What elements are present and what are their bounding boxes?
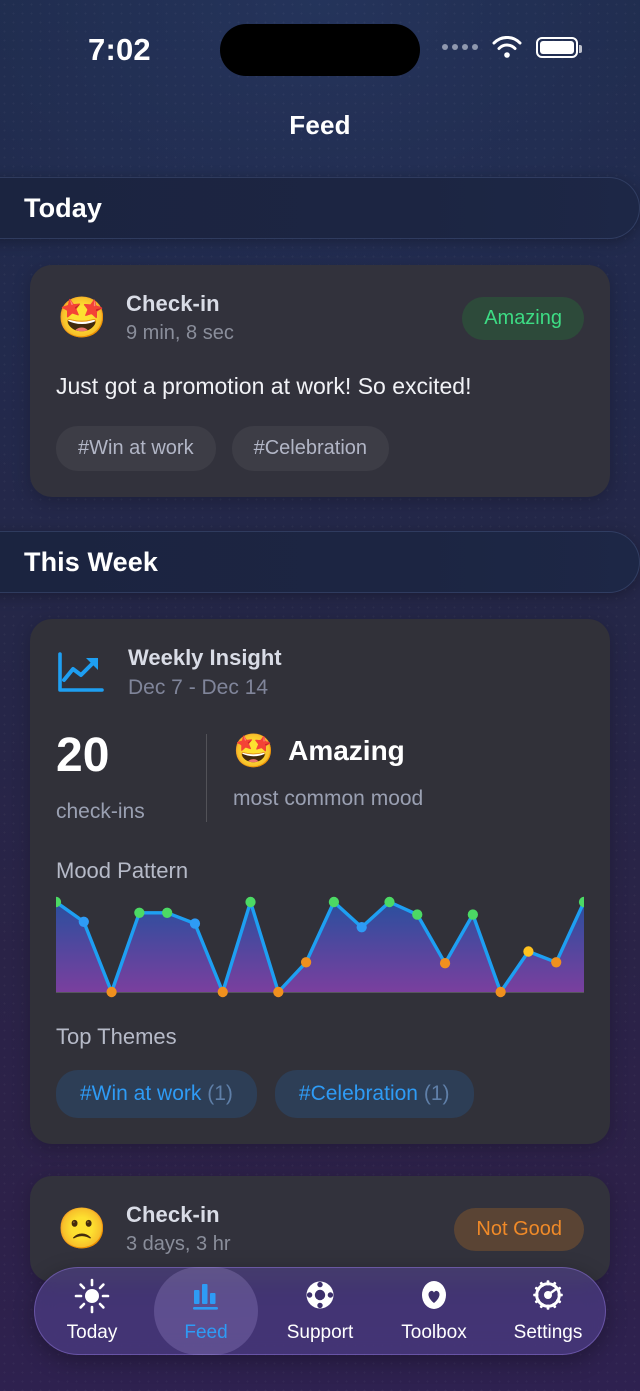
weekly-insight-meta: Weekly Insight Dec 7 - Dec 14 — [128, 645, 282, 700]
tag-chip[interactable]: #Win at work — [56, 426, 216, 471]
tab-today[interactable]: Today — [40, 1267, 144, 1355]
mood-point — [301, 957, 311, 967]
status-badge: Amazing — [462, 297, 584, 340]
theme-chip-count: (1) — [207, 1082, 233, 1105]
weekly-insight-card[interactable]: Weekly Insight Dec 7 - Dec 14 20 check-i… — [30, 619, 610, 1144]
weekly-stats: 20 check-ins 🤩 Amazing most common mood — [56, 732, 584, 824]
wifi-icon — [492, 36, 522, 58]
checkin-count-stat: 20 check-ins — [56, 732, 206, 824]
stat-divider — [206, 734, 207, 822]
mood-pattern-label: Mood Pattern — [56, 858, 584, 884]
section-header-today: Today — [0, 177, 640, 239]
status-bar-time: 7:02 — [88, 32, 151, 68]
frowning-face-emoji-icon: 🙁 — [56, 1209, 108, 1249]
theme-chip[interactable]: #Celebration (1) — [275, 1070, 474, 1118]
life-ring-icon — [302, 1278, 338, 1314]
mood-point — [245, 897, 255, 907]
theme-chip-name: #Celebration — [299, 1082, 418, 1105]
checkin-meta: Check-in 3 days, 3 hr — [126, 1202, 436, 1256]
checkin-elapsed: 3 days, 3 hr — [126, 1233, 436, 1256]
dynamic-island — [220, 24, 420, 76]
mood-point — [579, 897, 584, 907]
tab-bar: Today Feed — [34, 1267, 606, 1355]
section-header-this-week-label: This Week — [24, 547, 158, 578]
mood-point — [79, 917, 89, 927]
heart-icon — [416, 1278, 452, 1314]
theme-chip[interactable]: #Win at work (1) — [56, 1070, 257, 1118]
mood-point — [106, 987, 116, 997]
mood-pattern-chart — [56, 896, 584, 998]
tab-support-label: Support — [287, 1322, 354, 1344]
star-struck-emoji-icon: 🤩 — [56, 298, 108, 338]
tab-today-label: Today — [67, 1322, 118, 1344]
app-screen: 7:02 Feed Today 🤩 Check-in 9 min, 8 sec — [0, 0, 640, 1391]
checkin-count-value: 20 — [56, 732, 206, 780]
page-title: Feed — [0, 110, 640, 141]
mood-point — [134, 908, 144, 918]
theme-chip-name: #Win at work — [80, 1082, 201, 1105]
common-mood-stat: 🤩 Amazing most common mood — [233, 732, 584, 824]
theme-chip-count: (1) — [424, 1082, 450, 1105]
trending-up-chart-icon — [56, 650, 106, 696]
weekly-insight-date-range: Dec 7 - Dec 14 — [128, 676, 282, 700]
mood-point — [329, 897, 339, 907]
checkin-meta: Check-in 9 min, 8 sec — [126, 291, 444, 345]
bar-chart-icon — [188, 1278, 224, 1314]
checkin-message: Just got a promotion at work! So excited… — [56, 371, 584, 402]
weekly-insight-title: Weekly Insight — [128, 645, 282, 671]
mood-pattern-svg — [56, 896, 584, 998]
tab-feed[interactable]: Feed — [154, 1267, 258, 1355]
tab-support[interactable]: Support — [268, 1267, 372, 1355]
checkin-header: 🤩 Check-in 9 min, 8 sec Amazing — [56, 291, 584, 345]
common-mood-row: 🤩 Amazing — [233, 734, 584, 767]
status-bar: 7:02 — [0, 0, 640, 96]
tab-toolbox-label: Toolbox — [401, 1322, 467, 1344]
mood-point — [190, 918, 200, 928]
tab-toolbox[interactable]: Toolbox — [382, 1267, 486, 1355]
section-header-this-week: This Week — [0, 531, 640, 593]
signal-dots-icon — [442, 44, 478, 50]
status-bar-indicators — [442, 36, 578, 58]
mood-point — [162, 908, 172, 918]
mood-point — [357, 922, 367, 932]
top-themes-label: Top Themes — [56, 1024, 584, 1050]
gear-icon — [530, 1278, 566, 1314]
sun-icon — [74, 1278, 110, 1314]
mood-point — [273, 987, 283, 997]
mood-point — [412, 909, 422, 919]
common-mood-name: Amazing — [288, 735, 405, 767]
tag-chip[interactable]: #Celebration — [232, 426, 389, 471]
checkin-elapsed: 9 min, 8 sec — [126, 322, 444, 345]
mood-point — [468, 909, 478, 919]
checkin-card-today[interactable]: 🤩 Check-in 9 min, 8 sec Amazing Just got… — [30, 265, 610, 497]
checkin-header: 🙁 Check-in 3 days, 3 hr Not Good — [56, 1202, 584, 1256]
top-themes-list: #Win at work (1) #Celebration (1) — [56, 1070, 584, 1118]
weekly-insight-header: Weekly Insight Dec 7 - Dec 14 — [56, 645, 584, 700]
star-struck-emoji-icon: 🤩 — [233, 734, 274, 767]
checkin-tag-list: #Win at work #Celebration — [56, 426, 584, 471]
common-mood-caption: most common mood — [233, 787, 584, 811]
tab-settings[interactable]: Settings — [496, 1267, 600, 1355]
tab-feed-label: Feed — [184, 1322, 227, 1344]
checkin-count-label: check-ins — [56, 800, 206, 824]
mood-point — [496, 987, 506, 997]
section-header-today-label: Today — [24, 193, 102, 224]
tab-settings-label: Settings — [514, 1322, 583, 1344]
battery-icon — [536, 37, 578, 58]
mood-point — [218, 987, 228, 997]
mood-point — [551, 957, 561, 967]
mood-point — [523, 946, 533, 956]
checkin-title: Check-in — [126, 291, 444, 317]
status-badge: Not Good — [454, 1208, 584, 1251]
mood-point — [440, 958, 450, 968]
checkin-title: Check-in — [126, 1202, 436, 1228]
mood-point — [384, 897, 394, 907]
